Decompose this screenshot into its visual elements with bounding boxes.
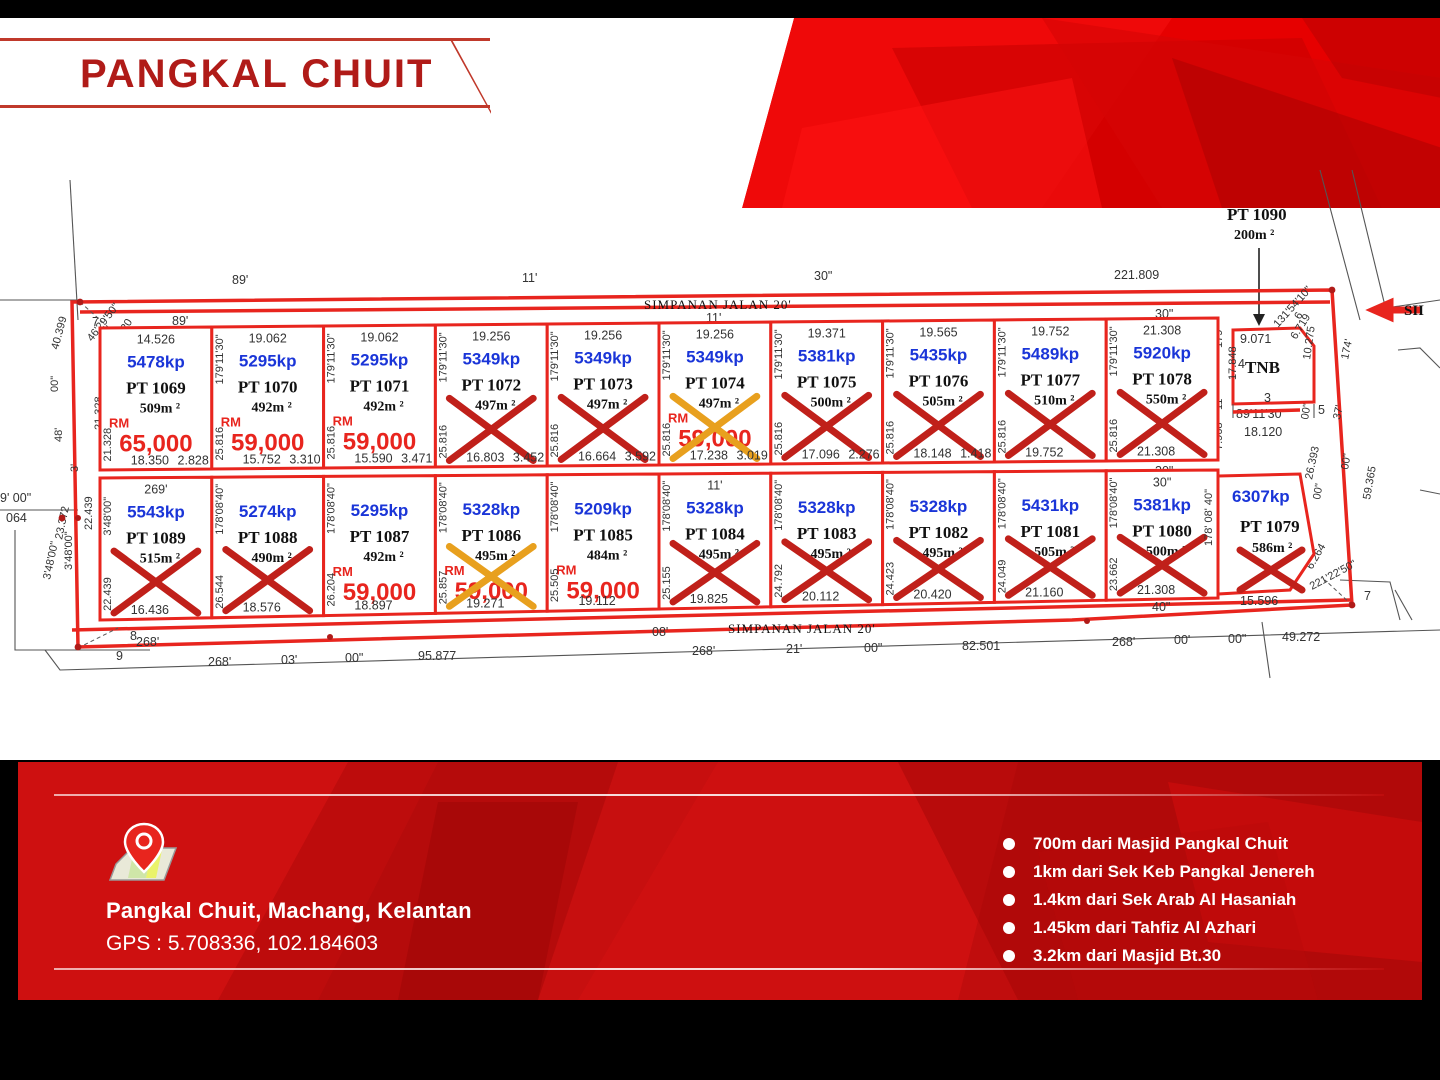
- lot-pt-1089[interactable]: 269'5543kpPT 1089515m ²16.4363'48'00"22.…: [100, 477, 212, 620]
- bearing-label: 268': [136, 635, 159, 649]
- lot-price-code: 5349kp: [462, 350, 520, 369]
- lot-number: PT 1071: [350, 377, 410, 396]
- bearing-label: 22.439: [83, 496, 95, 530]
- lot-pt-1077[interactable]: 19.7525489kpPT 1077510m ²19.752179'11'30…: [994, 319, 1106, 462]
- lot-pt-1087[interactable]: 5295kpPT 1087492m ²RM59,00018.897178'08'…: [324, 476, 436, 616]
- lot-number: PT 1084: [685, 525, 745, 544]
- bullet-dot-icon: [1003, 866, 1015, 878]
- lot-area: 497m ²: [587, 398, 627, 413]
- callout-lot: PT 1090: [1227, 205, 1287, 224]
- lot-side-length: 24.792: [773, 564, 785, 598]
- lot-dim-bottom: 16.803: [466, 451, 504, 465]
- lot-price-code: 5209kp: [574, 499, 632, 518]
- lot-side-length: 21.328: [102, 428, 114, 462]
- bearing-label: 49.272: [1282, 630, 1320, 644]
- lot-dim-bottom: 21.160: [1025, 585, 1063, 599]
- lot-dim-top: 19.565: [919, 326, 957, 340]
- lot-side-length: 25.816: [326, 426, 338, 460]
- lot-number: PT 1073: [573, 375, 633, 394]
- bearing-label: 82.501: [962, 639, 1000, 653]
- lot-dim-bottom: 21.308: [1137, 583, 1175, 597]
- lot-pt-1073[interactable]: 19.2565349kpPT 1073497m ²16.6643.592179'…: [547, 323, 659, 466]
- lot-bearing: 179'11'30": [661, 330, 673, 380]
- lot-pt-1076[interactable]: 19.5655435kpPT 1076505m ²18.1481.418179'…: [883, 320, 995, 463]
- bearing-label: 00": [1339, 452, 1354, 470]
- lot-dim-top: 19.062: [360, 331, 398, 345]
- nearby-item-label: 1.45km dari Tahfiz Al Azhari: [1033, 918, 1256, 938]
- lot-dim-top: 21.308: [1143, 324, 1181, 338]
- lot-dim-top: 14.526: [137, 333, 175, 347]
- lot-pt-1072[interactable]: 19.2565349kpPT 1072497m ²16.8033.452179'…: [435, 324, 547, 467]
- lot-area: 509m ²: [140, 402, 180, 417]
- bearing-label: 21': [786, 642, 802, 656]
- lot-bearing: 178'08'40": [885, 479, 897, 530]
- footer-divider-top: [54, 794, 1384, 796]
- nearby-item-label: 700m dari Masjid Pangkal Chuit: [1033, 834, 1288, 854]
- lot-price-code: 5295kp: [351, 501, 409, 520]
- bottom-row-lot-group: 269'5543kpPT 1089515m ²16.4363'48'00"22.…: [100, 470, 1218, 620]
- lot-bearing: 179'11'30": [214, 334, 226, 384]
- lot-pt-1069[interactable]: 14.5265478kpPT 1069509m ²RM65,00018.3502…: [100, 327, 212, 470]
- lot-pt-1071[interactable]: 19.0625295kpPT 1071492m ²RM59,00015.5903…: [324, 325, 436, 468]
- bearing-label: 26.393: [1303, 445, 1322, 480]
- direction-arrow-sii: SII: [1374, 303, 1424, 319]
- lot-bearing: 178'08'40": [549, 481, 561, 532]
- lot-area: 510m ²: [1034, 394, 1074, 409]
- lot-number: PT 1080: [1132, 521, 1192, 540]
- lot-bearing: 179'11'30": [437, 332, 449, 382]
- bearing-label: 03': [281, 653, 297, 667]
- lot-dim-bottom: 18.148: [913, 447, 951, 461]
- lot-pt-1088[interactable]: 5274kpPT 1088490m ²18.576178'08'40"26.54…: [212, 476, 324, 617]
- lot-bearing: 179'11'30": [326, 333, 338, 383]
- bearing-label: 3': [69, 464, 81, 472]
- bearing-label: 40": [1152, 600, 1170, 614]
- lot-dim-bottom: 20.112: [802, 590, 839, 604]
- bearing-label: 9' 00": [0, 491, 31, 505]
- lot-pt-1085[interactable]: 5209kpPT 1085484m ²RM59,00019.112178'08'…: [547, 474, 659, 611]
- lot-dim-bottom: 19.112: [578, 594, 615, 608]
- lot-bearing: 178'08'40": [437, 482, 449, 533]
- lot-area: 505m ²: [922, 395, 962, 410]
- footer-banner: Pangkal Chuit, Machang, Kelantan GPS : 5…: [18, 762, 1422, 1000]
- lot-number: PT 1075: [797, 373, 857, 392]
- lot-bearing: 3'48'00": [102, 497, 114, 536]
- lot-number: PT 1079: [1240, 517, 1300, 536]
- lot-corner-dim: 3.592: [625, 450, 656, 464]
- lot-side-length: 25.816: [773, 422, 785, 456]
- lot-pt-1075[interactable]: 19.3715381kpPT 1075500m ²17.0962.276179'…: [771, 321, 883, 464]
- callout-area: 200m ²: [1234, 228, 1274, 243]
- lot-side-length: 25.816: [214, 427, 226, 461]
- bearing-label: 064: [6, 511, 27, 525]
- bearing-label: 40.399: [49, 315, 69, 351]
- bearing-label: 95.877: [418, 649, 456, 663]
- lot-area: 586m ²: [1252, 541, 1292, 556]
- lot-price-code: 5328kp: [462, 500, 520, 519]
- lot-side-length: 26.544: [214, 575, 226, 609]
- nearby-amenities-list: 700m dari Masjid Pangkal Chuit1km dari S…: [1003, 834, 1315, 974]
- lot-side-length: 24.423: [885, 562, 897, 596]
- lot-dim-top: 19.256: [472, 330, 510, 344]
- nearby-item: 700m dari Masjid Pangkal Chuit: [1003, 834, 1315, 854]
- lot-dim-bottom: 16.436: [131, 603, 169, 617]
- bearing-label: 9.071: [1240, 332, 1271, 346]
- lot-dim-bottom: 15.752: [243, 453, 281, 467]
- bearing-label: 08': [652, 625, 668, 639]
- lot-bearing: 179'11'30": [996, 327, 1008, 377]
- lot-bearing: 179'11'30": [549, 331, 561, 381]
- lot-number: PT 1087: [350, 527, 410, 546]
- lot-dim-bottom: 21.308: [1137, 445, 1175, 459]
- lot-area: 492m ²: [363, 550, 403, 565]
- lot-bearing: 178'08'40": [996, 478, 1008, 529]
- gps-coordinates: GPS : 5.708336, 102.184603: [106, 932, 378, 956]
- lot-price-code: 5349kp: [574, 349, 632, 368]
- lot-price-code: 5435kp: [910, 346, 968, 365]
- bearing-label: 59.365: [1361, 465, 1379, 500]
- bearing-label: 30": [814, 269, 832, 283]
- lot-number: PT 1072: [461, 376, 521, 395]
- lot-dim-bottom: 17.096: [802, 448, 840, 462]
- location-name: Pangkal Chuit, Machang, Kelantan: [106, 898, 472, 924]
- lot-side-length: 22.439: [102, 577, 114, 611]
- lot-price-code: 6307kp: [1232, 487, 1290, 506]
- lot-dim-bottom: 18.350: [131, 454, 169, 468]
- lot-dim-bottom: 15.596: [1240, 594, 1278, 608]
- lot-price-code: 5431kp: [1021, 496, 1079, 515]
- land-plot-map: SII PT 1090 200m ² SIMPANAN JALAN 20' SI…: [0, 150, 1440, 690]
- bullet-dot-icon: [1003, 894, 1015, 906]
- lot-dim-bottom: 18.576: [243, 601, 281, 615]
- lot-side-length: 25.857: [437, 571, 449, 605]
- page-title: PANGKAL CHUIT: [80, 52, 433, 97]
- lot-dim-bottom: 20.420: [913, 588, 951, 602]
- lot-pt-1081[interactable]: 5431kpPT 1081505m ²21.160178'08'40"24.04…: [994, 471, 1106, 603]
- tnb-label: TNB: [1245, 358, 1280, 377]
- location-pin-icon: [106, 820, 186, 895]
- lot-pt-1082[interactable]: 5328kpPT 1082495m ²20.420178'08'40"24.42…: [883, 472, 995, 605]
- lot-side-length: 26.204: [326, 573, 338, 607]
- bearing-label: 7: [92, 315, 99, 329]
- bearing-label: 268': [208, 655, 231, 669]
- lot-number: PT 1076: [909, 372, 969, 391]
- lot-number: PT 1089: [126, 529, 186, 548]
- lot-pt-1080[interactable]: 30"5381kpPT 1080500m ²21.308178'08'40"23…: [1106, 470, 1218, 600]
- bearing-label: 3'48'00": [41, 540, 61, 580]
- lot-price-code: 5274kp: [239, 502, 297, 521]
- lot-bearing: 178'08'40": [1108, 477, 1120, 528]
- bearing-label: 4: [1238, 357, 1245, 371]
- lot-bearing: 179'11'30": [885, 328, 897, 378]
- lot-number: PT 1088: [238, 528, 298, 547]
- lot-area: 500m ²: [811, 396, 851, 411]
- lot-number: PT 1086: [461, 526, 521, 545]
- lot-area: 497m ²: [475, 399, 515, 414]
- lot-price-code: 5328kp: [798, 498, 856, 517]
- bearing-label: 11': [522, 271, 537, 285]
- lot-bearing: 178'08'40": [214, 484, 226, 535]
- lot-price-code: 5489kp: [1021, 345, 1079, 364]
- nearby-item-label: 1.4km dari Sek Arab Al Hasaniah: [1033, 890, 1296, 910]
- bearing-label: 00': [1174, 633, 1190, 647]
- lot-dim-top: 19.256: [584, 329, 622, 343]
- bearing-label: 89': [232, 273, 248, 287]
- lot-pt-1083[interactable]: 5328kpPT 1083495m ²20.112178'08'40"24.79…: [771, 472, 883, 606]
- lot-dim-top: 19.371: [808, 327, 846, 341]
- lot-side-length: 25.816: [885, 421, 897, 455]
- lot-side-length: 25.816: [1108, 419, 1120, 453]
- top-row-lot-group: 14.5265478kpPT 1069509m ²RM65,00018.3502…: [100, 318, 1218, 470]
- road-label-top: SIMPANAN JALAN 20': [644, 297, 792, 312]
- lot-corner-dim: 3.471: [401, 452, 432, 466]
- lot-price-code: 5543kp: [127, 503, 185, 522]
- lot-corner-dim: 2.276: [848, 448, 879, 462]
- lot-pt-1070[interactable]: 19.0625295kpPT 1070492m ²RM59,00015.7523…: [212, 326, 324, 469]
- bullet-dot-icon: [1003, 838, 1015, 850]
- bearing-label: 00": [1299, 402, 1314, 420]
- bearing-label: 3: [1264, 391, 1271, 405]
- bearing-label: 174': [1339, 338, 1355, 361]
- nearby-item: 1.45km dari Tahfiz Al Azhari: [1003, 918, 1315, 938]
- lot-pt-1086[interactable]: 5328kpPT 1086495m ²RM59,00019.271178'08'…: [435, 475, 547, 614]
- lot-dim-top: 19.752: [1031, 325, 1069, 339]
- poster-root: PANGKAL CHUIT: [0, 0, 1440, 1080]
- lot-price-code: 5478kp: [127, 353, 185, 372]
- lot-price-code: 5349kp: [686, 348, 744, 367]
- bearing-label: 8: [130, 629, 137, 643]
- lot-area: 497m ²: [699, 397, 739, 412]
- bearing-label: 7: [1364, 589, 1371, 603]
- lot-number: PT 1070: [238, 378, 298, 397]
- lot-number: PT 1077: [1020, 371, 1080, 390]
- lot-price-code: 5328kp: [686, 499, 744, 518]
- lot-price-code: 5295kp: [239, 352, 297, 371]
- lot-corner-dim: 3.019: [737, 449, 768, 463]
- nearby-item: 1.4km dari Sek Arab Al Hasaniah: [1003, 890, 1315, 910]
- lot-side-length: 25.505: [549, 568, 561, 602]
- lot-dim-bottom: 15.590: [354, 452, 392, 466]
- bearing-label: 221.809: [1114, 268, 1159, 282]
- lot-bearing: 178'08'40": [773, 480, 785, 531]
- nearby-item-label: 3.2km dari Masjid Bt.30: [1033, 946, 1221, 966]
- nearby-item: 3.2km dari Masjid Bt.30: [1003, 946, 1315, 966]
- lot-corner-dim: 3.452: [513, 451, 544, 465]
- bearing-label: 00": [49, 376, 61, 392]
- lot-number: PT 1069: [126, 379, 186, 398]
- lot-side-length: 25.155: [661, 566, 673, 600]
- lot-side-length: 25.816: [661, 423, 673, 457]
- lot-corner-dim: 3.310: [289, 453, 320, 467]
- lot-area: 484m ²: [587, 548, 627, 563]
- lot-price-code: 5381kp: [1133, 495, 1191, 514]
- lot-side-length: 23.662: [1108, 557, 1120, 591]
- lot-number: PT 1082: [909, 523, 969, 542]
- lot-area: 550m ²: [1146, 393, 1186, 408]
- bearing-label: 18.120: [1244, 425, 1282, 439]
- nearby-item: 1km dari Sek Keb Pangkal Jenereh: [1003, 862, 1315, 882]
- lot-number: PT 1085: [573, 525, 633, 544]
- lot-corner-dim: 1.418: [960, 447, 991, 461]
- bearing-label: 9: [116, 649, 123, 663]
- lot-dim-bottom: 17.238: [690, 449, 728, 463]
- lot-bearing: 178'08'40": [326, 483, 338, 534]
- lot-dim-bottom: 19.271: [466, 596, 504, 610]
- bearing-label: 5: [1318, 403, 1325, 417]
- lot-area: 492m ²: [363, 400, 403, 415]
- lot-bearing: 178' 08' 40": [1203, 489, 1215, 546]
- lot-pt-1078[interactable]: 21.3085920kpPT 1078550m ²21.308179'11'30…: [1106, 318, 1218, 461]
- bearing-label: 37': [1331, 404, 1346, 421]
- bullet-dot-icon: [1003, 950, 1015, 962]
- bearing-label: 48': [53, 428, 65, 442]
- bearing-label: 00": [1228, 632, 1246, 646]
- lot-dim-top: 30": [1153, 475, 1171, 489]
- lot-bearing: 179'11'30": [1108, 326, 1120, 376]
- bearing-label: 00": [345, 651, 363, 665]
- lot-number: PT 1081: [1020, 522, 1080, 541]
- lot-pt-1079[interactable]: 6307kp PT 1079 586m ² 15.596 178' 08' 40…: [1203, 474, 1314, 608]
- lot-number: PT 1078: [1132, 370, 1192, 389]
- lot-dim-bottom: 16.664: [578, 450, 616, 464]
- nearby-item-label: 1km dari Sek Keb Pangkal Jenereh: [1033, 862, 1315, 882]
- lot-dim-top: 269': [144, 483, 167, 497]
- lot-side-length: 24.049: [996, 560, 1008, 594]
- lot-price-code: 5328kp: [910, 497, 968, 516]
- lot-number: PT 1083: [797, 524, 857, 543]
- lot-corner-dim: 2.828: [178, 454, 209, 468]
- lot-side-length: 25.816: [549, 424, 561, 458]
- lot-price-code: 5920kp: [1133, 344, 1191, 363]
- bearing-label: 268': [1112, 635, 1135, 649]
- road-label-bottom: SIMPANAN JALAN 20': [728, 621, 876, 636]
- bullet-dot-icon: [1003, 922, 1015, 934]
- lot-number: PT 1074: [685, 374, 745, 393]
- tnb-parcel: TNB 9.071 6.719 10.275 131'54'10" 89'11'…: [1212, 284, 1325, 450]
- direction-label: SII: [1404, 303, 1424, 319]
- lot-side-length: 25.816: [996, 420, 1008, 454]
- lot-dim-top: 19.062: [249, 332, 287, 346]
- lot-pt-1074[interactable]: 19.2565349kpPT 1074497m ²RM59,00017.2383…: [659, 322, 771, 465]
- lot-dim-bottom: 18.897: [354, 599, 392, 613]
- lot-pt-1084[interactable]: 11'5328kpPT 1084495m ²19.825178'08'40"25…: [659, 473, 771, 609]
- lot-bearing: 179'11'30": [773, 329, 785, 379]
- lot-dim-bottom: 19.825: [690, 592, 728, 606]
- lot-area: 492m ²: [252, 401, 292, 416]
- lot-bearing: 178'08'40": [661, 481, 673, 532]
- bearing-label: 268': [692, 644, 715, 658]
- lot-price-code: 5295kp: [351, 351, 409, 370]
- lot-side-length: 25.816: [437, 425, 449, 459]
- callout-pt1090: PT 1090 200m ²: [1227, 205, 1287, 326]
- lot-dim-top: 19.256: [696, 328, 734, 342]
- lot-dim-top: 11': [707, 479, 722, 493]
- lot-dim-bottom: 19.752: [1025, 446, 1063, 460]
- bearing-label: 00": [1311, 482, 1326, 500]
- bearing-label: 00": [864, 641, 882, 655]
- lot-price-code: 5381kp: [798, 347, 856, 366]
